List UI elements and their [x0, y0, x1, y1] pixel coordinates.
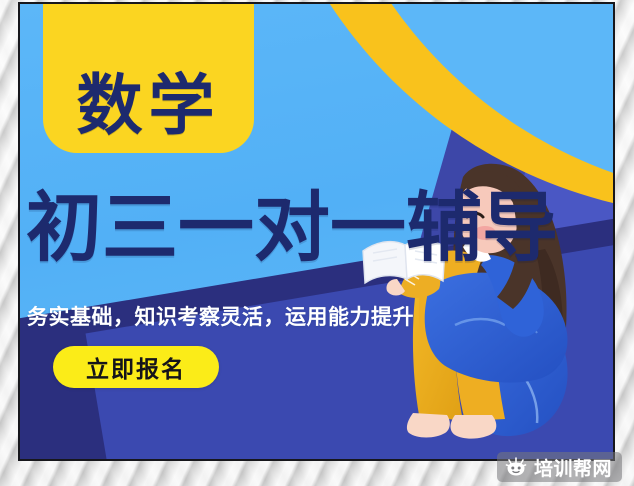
- screenshot-stage: 数学 初三一对一辅导 务实基础，知识考察灵活，运用能力提升 立即报名: [0, 0, 634, 486]
- poster-subtitle: 务实基础，知识考察灵活，运用能力提升: [27, 301, 414, 331]
- enroll-now-label: 立即报名: [86, 350, 186, 384]
- subject-chip: 数学: [43, 4, 254, 153]
- poster-canvas: 数学 初三一对一辅导 务实基础，知识考察灵活，运用能力提升 立即报名: [20, 4, 613, 459]
- subject-chip-label: 数学: [77, 73, 221, 139]
- enroll-now-button[interactable]: 立即报名: [53, 346, 219, 388]
- watermark-text: 培训帮网: [534, 454, 612, 481]
- poster-frame: 数学 初三一对一辅导 务实基础，知识考察灵活，运用能力提升 立即报名: [18, 2, 615, 461]
- sun-face-icon: [505, 457, 527, 477]
- page-title: 初三一对一辅导: [26, 190, 611, 266]
- watermark: 培训帮网: [497, 452, 622, 482]
